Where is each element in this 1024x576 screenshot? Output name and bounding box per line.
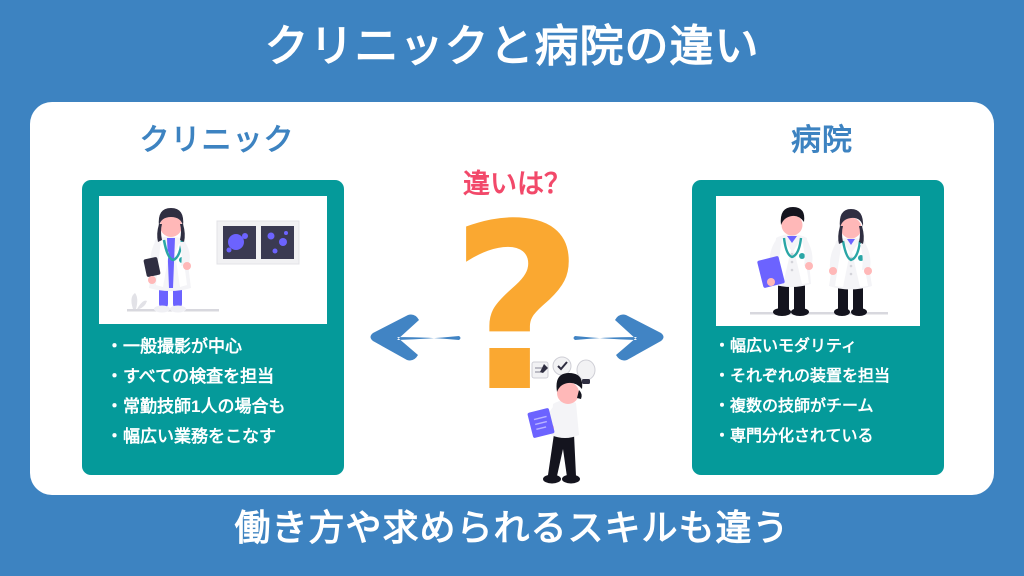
card-clinic: ・一般撮影が中心 ・すべての検査を担当 ・常勤技師1人の場合も ・幅広い業務をこ… (82, 180, 344, 475)
page-title: クリニックと病院の違い (0, 18, 1024, 76)
note-icon (532, 362, 548, 378)
card-hospital: ・幅広いモダリティ ・それぞれの装置を担当 ・複数の技師がチーム ・専門分化され… (692, 180, 944, 475)
clinic-illustration (99, 196, 327, 324)
thinking-person-illustration (510, 348, 620, 488)
arrow-left-glyph (347, 300, 462, 370)
thinking-person-icon (510, 348, 620, 488)
arrow-left-icon (347, 300, 462, 370)
check-icon (553, 357, 571, 375)
hospital-bullet-list: ・幅広いモダリティ ・それぞれの装置を担当 ・複数の技師がチーム ・専門分化され… (692, 332, 944, 452)
footer-caption: 働き方や求められるスキルも違う (0, 503, 1024, 553)
list-item: ・複数の技師がチーム (702, 392, 934, 422)
list-item: ・常勤技師1人の場合も (92, 392, 334, 422)
list-item: ・専門分化されている (702, 422, 934, 452)
list-item: ・幅広い業務をこなす (92, 422, 334, 452)
list-item: ・一般撮影が中心 (92, 332, 334, 362)
column-heading-clinic: クリニック (82, 122, 352, 160)
two-doctors-icon (716, 196, 920, 326)
list-item: ・それぞれの装置を担当 (702, 362, 934, 392)
list-item: ・幅広いモダリティ (702, 332, 934, 362)
female-radiologist-icon (99, 196, 327, 324)
clinic-bullet-list: ・一般撮影が中心 ・すべての検査を担当 ・常勤技師1人の場合も ・幅広い業務をこ… (82, 332, 344, 452)
hospital-illustration (716, 196, 920, 326)
slide-canvas: クリニックと病院の違い クリニック (0, 0, 1024, 576)
column-heading-hospital: 病院 (692, 122, 952, 160)
list-item: ・すべての検査を担当 (92, 362, 334, 392)
